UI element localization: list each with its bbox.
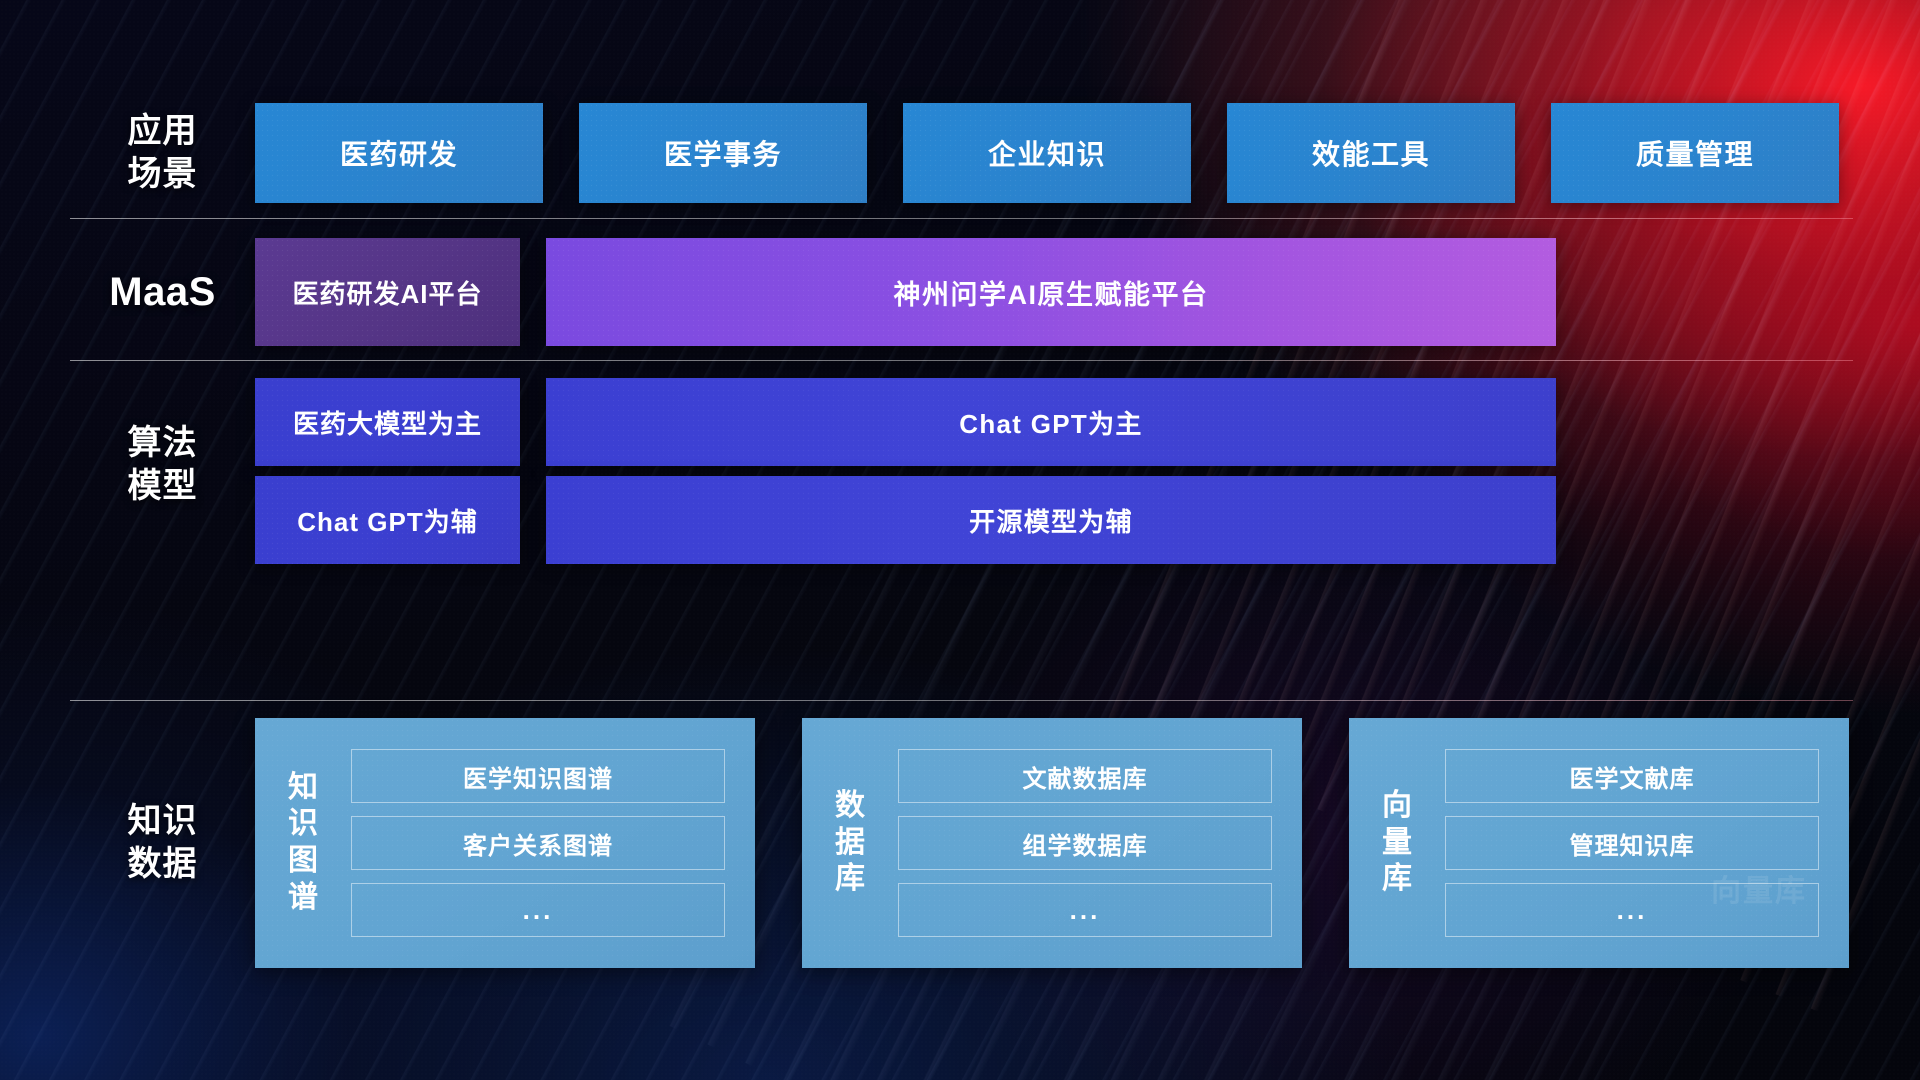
row-label-algorithm-models: 算法 模型 (70, 422, 255, 508)
row-label-application-scenarios: 应用 场景 (70, 110, 255, 196)
knowledge-group-label-knowledge-graph: 知识图谱 (255, 770, 351, 916)
maas-box-shenzhou-wenxue-platform[interactable]: 神州问学AI原生赋能平台 (546, 238, 1556, 346)
knowledge-item-more-db[interactable]: ... (898, 883, 1272, 937)
knowledge-group-label-text: 知识图谱 (287, 770, 319, 916)
algo-box-opensource-secondary[interactable]: 开源模型为辅 (546, 476, 1556, 564)
row-label-maas: MaaS (70, 267, 255, 317)
divider-algorithms-knowledge (70, 700, 1853, 701)
row-algorithm-models: 算法 模型 医药大模型为主 Chat GPT为主 Chat GPT为辅 开源模型… (70, 378, 1850, 566)
knowledge-group-label-database: 数据库 (802, 788, 898, 898)
diagram-stage: 应用 场景 医药研发 医学事务 企业知识 效能工具 质量管理 MaaS 医药研发… (0, 0, 1920, 1080)
architecture-diagram: 应用 场景 医药研发 医学事务 企业知识 效能工具 质量管理 MaaS 医药研发… (0, 0, 1920, 1080)
knowledge-item-management-knowledge-store[interactable]: 管理知识库 (1445, 816, 1819, 870)
maas-boxes: 医药研发AI平台 神州问学AI原生赋能平台 (255, 238, 1556, 346)
row-application-scenarios: 应用 场景 医药研发 医学事务 企业知识 效能工具 质量管理 (70, 103, 1850, 203)
knowledge-group-label-text: 数据库 (834, 788, 866, 898)
knowledge-group-label-text: 向量库 (1381, 788, 1413, 898)
knowledge-item-literature-database[interactable]: 文献数据库 (898, 749, 1272, 803)
algo-box-medicine-llm-primary[interactable]: 医药大模型为主 (255, 378, 520, 466)
knowledge-item-more-vec[interactable]: ... (1445, 883, 1819, 937)
knowledge-item-medical-literature-store[interactable]: 医学文献库 (1445, 749, 1819, 803)
app-box-medicine-rd[interactable]: 医药研发 (255, 103, 543, 203)
row-maas: MaaS 医药研发AI平台 神州问学AI原生赋能平台 (70, 238, 1850, 346)
algo-box-chatgpt-secondary[interactable]: Chat GPT为辅 (255, 476, 520, 564)
divider-maas-algorithms (70, 360, 1853, 361)
app-box-efficiency-tools[interactable]: 效能工具 (1227, 103, 1515, 203)
algorithm-row-secondary: Chat GPT为辅 开源模型为辅 (255, 476, 1556, 564)
knowledge-group-knowledge-graph[interactable]: 知识图谱 医学知识图谱 客户关系图谱 ... (255, 718, 755, 968)
app-box-medical-affairs[interactable]: 医学事务 (579, 103, 867, 203)
application-scenario-boxes: 医药研发 医学事务 企业知识 效能工具 质量管理 (255, 103, 1839, 203)
knowledge-item-medical-knowledge-graph[interactable]: 医学知识图谱 (351, 749, 725, 803)
knowledge-data-groups: 知识图谱 医学知识图谱 客户关系图谱 ... 数据库 文献数据库 组 (255, 718, 1849, 968)
divider-apps-maas (70, 218, 1853, 219)
algo-box-chatgpt-primary[interactable]: Chat GPT为主 (546, 378, 1556, 466)
maas-box-medicine-rd-platform[interactable]: 医药研发AI平台 (255, 238, 520, 346)
knowledge-item-more-kg[interactable]: ... (351, 883, 725, 937)
knowledge-item-customer-relation-graph[interactable]: 客户关系图谱 (351, 816, 725, 870)
knowledge-group-label-vector-store: 向量库 (1349, 788, 1445, 898)
knowledge-item-omics-database[interactable]: 组学数据库 (898, 816, 1272, 870)
app-box-enterprise-knowledge[interactable]: 企业知识 (903, 103, 1191, 203)
knowledge-group-vector-store[interactable]: 向量库 医学文献库 管理知识库 ... 向量库 (1349, 718, 1849, 968)
app-box-quality-management[interactable]: 质量管理 (1551, 103, 1839, 203)
knowledge-group-items: 医学文献库 管理知识库 ... (1445, 749, 1849, 937)
row-label-knowledge-data: 知识 数据 (70, 800, 255, 886)
knowledge-group-items: 医学知识图谱 客户关系图谱 ... (351, 749, 755, 937)
row-knowledge-data: 知识 数据 知识图谱 医学知识图谱 客户关系图谱 ... 数据 (70, 718, 1850, 968)
algorithm-model-boxes: 医药大模型为主 Chat GPT为主 Chat GPT为辅 开源模型为辅 (255, 378, 1556, 564)
knowledge-group-database[interactable]: 数据库 文献数据库 组学数据库 ... (802, 718, 1302, 968)
algorithm-row-primary: 医药大模型为主 Chat GPT为主 (255, 378, 1556, 466)
knowledge-group-items: 文献数据库 组学数据库 ... (898, 749, 1302, 937)
